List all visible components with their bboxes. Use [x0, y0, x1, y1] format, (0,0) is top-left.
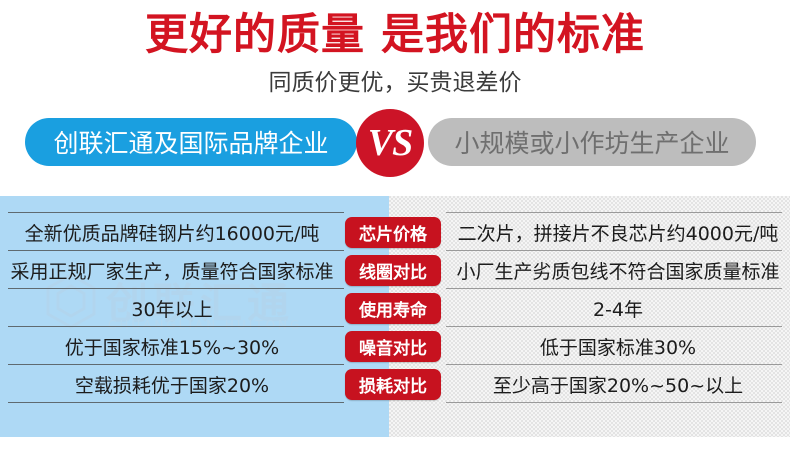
table-cell-left: 空载损耗优于国家20% [0, 366, 344, 403]
row-separator [446, 212, 782, 213]
table-cell-right: 2-4年 [446, 290, 790, 327]
table-badge: 芯片价格 [345, 217, 441, 248]
page-subtitle: 同质价更优，买贵退差价 [0, 72, 790, 95]
table-cell-right: 至少高于国家20%~50~以上 [446, 366, 790, 403]
table-cell-left: 优于国家标准15%~30% [0, 328, 344, 365]
versus-left-label: 创联汇通及国际品牌企业 [53, 124, 328, 160]
versus-left-pill: 创联汇通及国际品牌企业 [25, 118, 357, 166]
table-badge: 噪音对比 [345, 331, 441, 362]
table-cell-right: 小厂生产劣质包线不符合国家质量标准 [446, 252, 790, 289]
promo-page: 更好的质量 是我们的标准 同质价更优，买贵退差价 创联汇通及国际品牌企业 VS … [0, 0, 790, 464]
versus-right-label: 小规模或小作坊生产企业 [454, 124, 729, 160]
table-badge: 使用寿命 [345, 293, 441, 324]
table-cell-left: 30年以上 [0, 290, 344, 327]
table-cell-left: 全新优质品牌硅钢片约16000元/吨 [0, 214, 344, 251]
page-title: 更好的质量 是我们的标准 [0, 14, 790, 57]
versus-badge-icon: VS [356, 109, 424, 177]
versus-right-pill: 小规模或小作坊生产企业 [428, 118, 756, 166]
table-cell-right: 二次片，拼接片不良芯片约4000元/吨 [446, 214, 790, 251]
table-cell-right: 低于国家标准30% [446, 328, 790, 365]
table-badge: 线圈对比 [345, 255, 441, 286]
versus-band: 创联汇通及国际品牌企业 VS 小规模或小作坊生产企业 [0, 118, 790, 174]
table-badge: 损耗对比 [345, 369, 441, 400]
table-cell-left: 采用正规厂家生产，质量符合国家标准 [0, 252, 344, 289]
versus-label: VS [368, 121, 412, 165]
row-separator [8, 212, 344, 213]
